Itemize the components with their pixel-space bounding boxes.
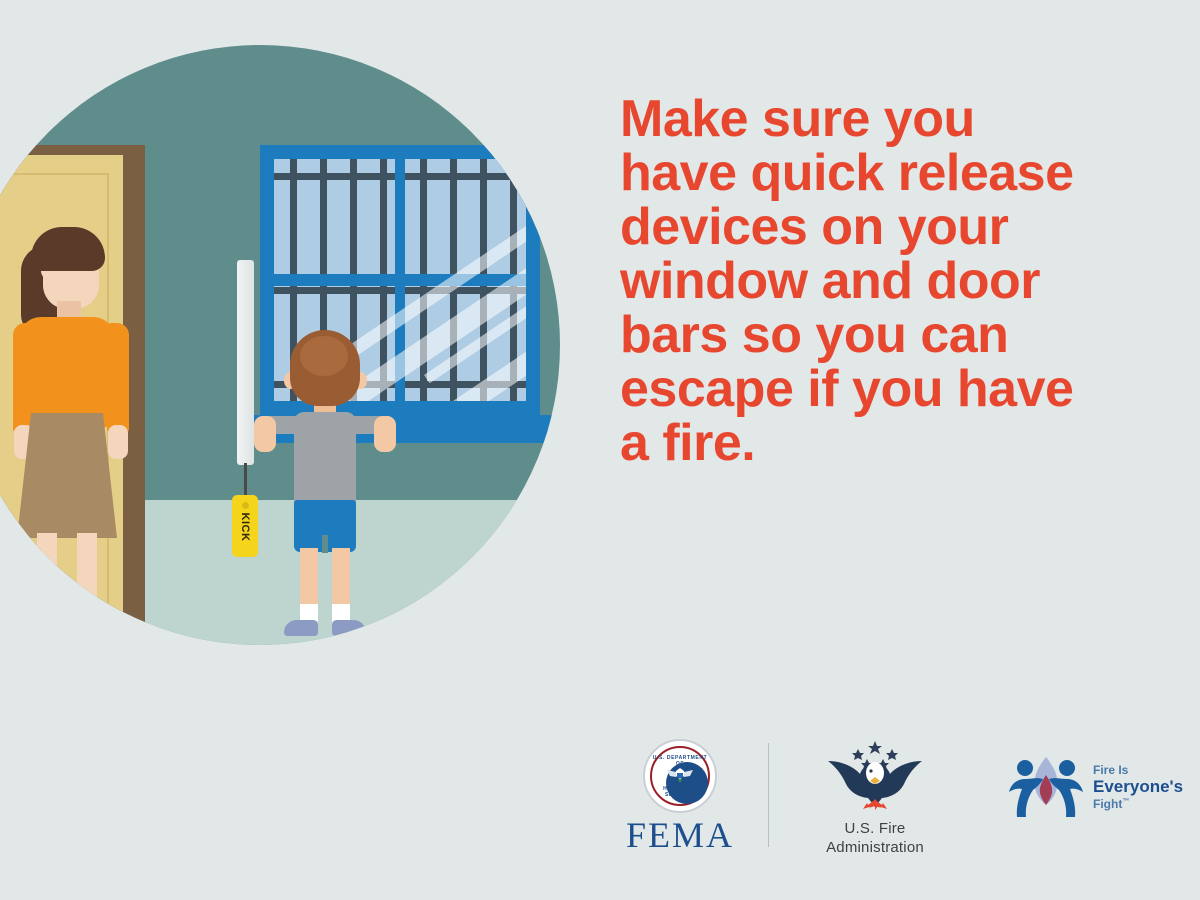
headline-line: devices on your — [620, 200, 1140, 254]
headline-line: Make sure you — [620, 92, 1140, 146]
headline-line: bars so you can — [620, 308, 1140, 362]
dhs-seal-icon: U.S. DEPARTMENT OF HOMELAND SECURITY — [643, 739, 717, 813]
fief-trademark: ™ — [1122, 798, 1129, 805]
usfa-logo: U.S. Fire Administration — [795, 737, 955, 858]
boy-leg-right — [332, 548, 350, 610]
boy-shirt — [294, 412, 356, 510]
usfa-line-2: Administration — [795, 839, 955, 858]
fire-is-everyones-fight-logo: Fire Is Everyone's Fight™ — [1005, 753, 1200, 831]
poster-canvas: KICK — [0, 0, 1200, 900]
kick-tag-hole — [242, 502, 249, 509]
usfa-eagle-icon — [810, 737, 940, 815]
fema-logo: U.S. DEPARTMENT OF HOMELAND SECURITY FEM… — [610, 735, 750, 853]
dhs-seal-ring: U.S. DEPARTMENT OF HOMELAND SECURITY — [650, 746, 710, 806]
headline-line: escape if you have — [620, 362, 1140, 416]
boy-leg-left — [300, 548, 318, 610]
dhs-seal-bottom-text: HOMELAND SECURITY — [652, 786, 708, 798]
boy-hand-left — [254, 416, 276, 452]
usfa-wordmark: U.S. Fire Administration — [795, 820, 955, 858]
fief-line-2: Everyone's — [1093, 777, 1183, 797]
woman-skirt — [17, 413, 117, 538]
logo-divider — [768, 743, 769, 847]
fief-people-flame-icon — [1005, 753, 1087, 821]
headline-line: have quick release — [620, 146, 1140, 200]
woman-hair-top — [31, 227, 105, 271]
window-mullion-horizontal — [274, 274, 526, 286]
kick-tag: KICK — [232, 495, 258, 557]
usfa-line-1: U.S. Fire — [795, 820, 955, 839]
boy-hand-right — [374, 416, 396, 452]
kick-tag-label: KICK — [239, 513, 251, 542]
fief-line-1: Fire Is — [1093, 763, 1183, 777]
woman-shoe-left — [31, 617, 75, 639]
woman-sweater — [19, 317, 115, 427]
woman-shoe-right — [71, 617, 127, 639]
quick-release-rod — [237, 260, 254, 465]
woman-leg-right — [77, 533, 97, 628]
boy-hair-highlight — [300, 336, 348, 376]
boy-shorts-gap — [322, 535, 328, 553]
woman-hand-right — [108, 425, 128, 459]
woman-leg-left — [37, 533, 57, 628]
headline-line: a fire. — [620, 416, 1140, 470]
fief-wordmark: Fire Is Everyone's Fight™ — [1093, 763, 1183, 811]
fief-line-3-wrap: Fight™ — [1093, 797, 1183, 811]
boy-shoe-right — [332, 620, 366, 636]
fief-line-3: Fight — [1093, 797, 1122, 811]
headline-line: window and door — [620, 254, 1140, 308]
illustration-scene: KICK — [0, 45, 560, 645]
logo-row: U.S. DEPARTMENT OF HOMELAND SECURITY FEM… — [600, 735, 1180, 865]
woman-figure — [5, 225, 155, 645]
fema-wordmark: FEMA — [610, 817, 750, 853]
boy-shoe-left — [284, 620, 318, 636]
headline-message: Make sure you have quick release devices… — [620, 92, 1140, 471]
boy-figure — [260, 330, 390, 645]
